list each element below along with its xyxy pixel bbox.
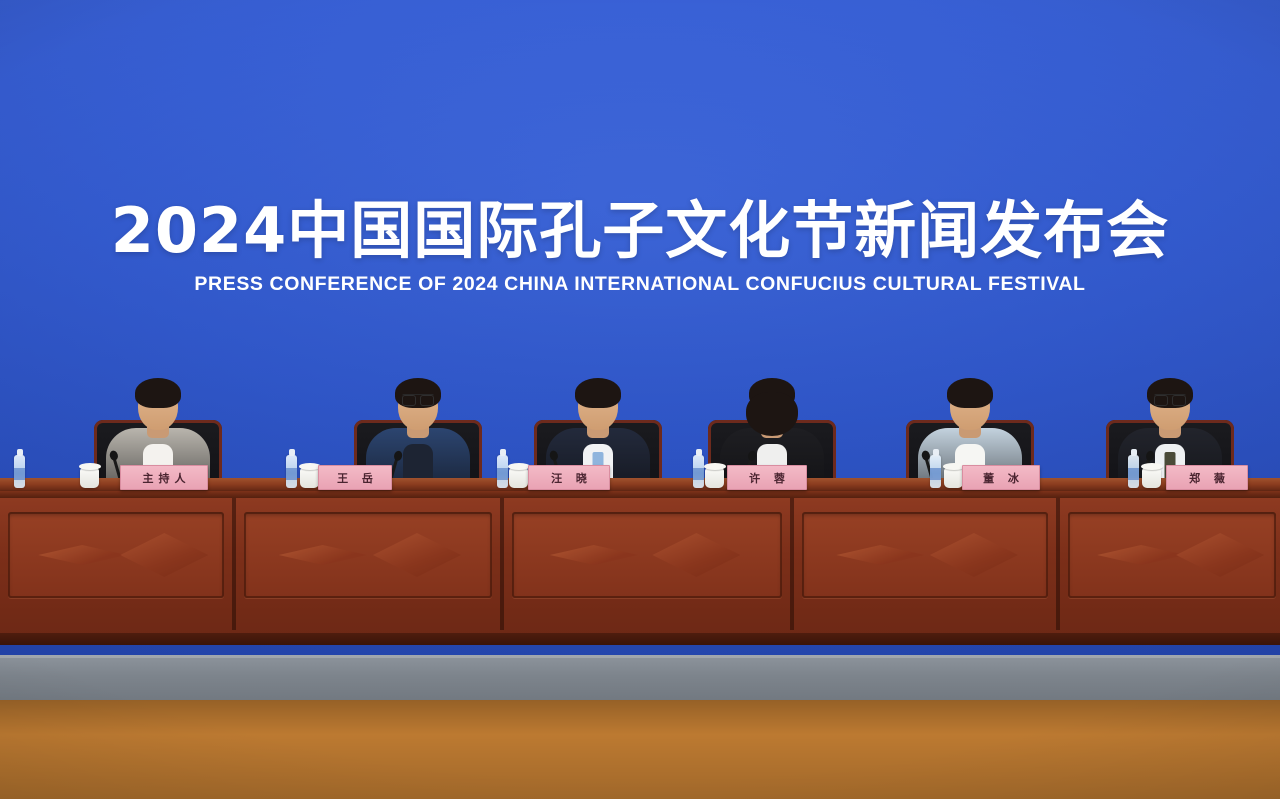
desk-panel-segment [0,498,236,630]
panelist-hair [575,378,621,408]
desk-recessed-panel [512,512,782,598]
desk-diamond-carving [38,545,126,565]
desk-recessed-panel [244,512,492,598]
name-placard-text: 许 蓉 [744,470,790,486]
water-bottle [286,455,297,488]
desk-diamond-carving [279,545,367,565]
desk-diamond-carving [120,533,208,577]
water-bottle [693,455,704,488]
lidded-teacup [509,468,528,488]
press-conference-photo: 2024中国国际孔子文化节新闻发布会 PRESS CONFERENCE OF 2… [0,0,1280,799]
lidded-teacup [944,468,963,488]
desk-panel-segment [790,498,1060,630]
eyeglasses-icon [402,394,434,404]
panelist-hair [135,378,181,408]
patterned-carpet [0,700,1280,799]
tabletop-items: 主持人王 岳汪 晓许 蓉董 冰郑 薇 [0,446,1280,488]
desk-front [0,498,1280,640]
desk-diamond-carving [373,533,461,577]
name-placard-text: 董 冰 [978,470,1024,486]
lidded-teacup [80,468,99,488]
desk-diamond-carving [550,545,638,565]
name-placard-text: 汪 晓 [546,470,592,486]
desk-panel-segment [500,498,794,630]
desk-recessed-panel [1068,512,1276,598]
desk-recessed-panel [8,512,224,598]
name-placard: 汪 晓 [528,465,610,490]
desk-panel-segment [1056,498,1280,630]
conference-desk [0,478,1280,660]
water-bottle [930,455,941,488]
desk-lip [0,491,1280,498]
name-placard: 许 蓉 [727,465,807,490]
lidded-teacup [300,468,319,488]
desk-diamond-carving [652,533,740,577]
panelist-hair [947,378,993,408]
lidded-teacup [705,468,724,488]
name-placard: 王 岳 [318,465,392,490]
panelist-hair [749,378,795,408]
name-placard-text: 郑 薇 [1184,470,1230,486]
desk-panel-segment [232,498,504,630]
water-bottle [1128,455,1139,488]
desk-diamond-carving [930,533,1018,577]
water-bottle [14,455,25,488]
name-placard: 主持人 [120,465,208,490]
lidded-teacup [1142,468,1161,488]
water-bottle [497,455,508,488]
desk-base-moulding [0,633,1280,645]
desk-diamond-carving [1176,533,1264,577]
name-placard: 董 冰 [962,465,1040,490]
name-placard: 郑 薇 [1166,465,1248,490]
name-placard-text: 主持人 [138,470,191,486]
desk-diamond-carving [836,545,924,565]
desk-recessed-panel [802,512,1048,598]
desk-diamond-carving [1097,545,1185,565]
eyeglasses-icon [1154,394,1186,404]
name-placard-text: 王 岳 [332,470,378,486]
